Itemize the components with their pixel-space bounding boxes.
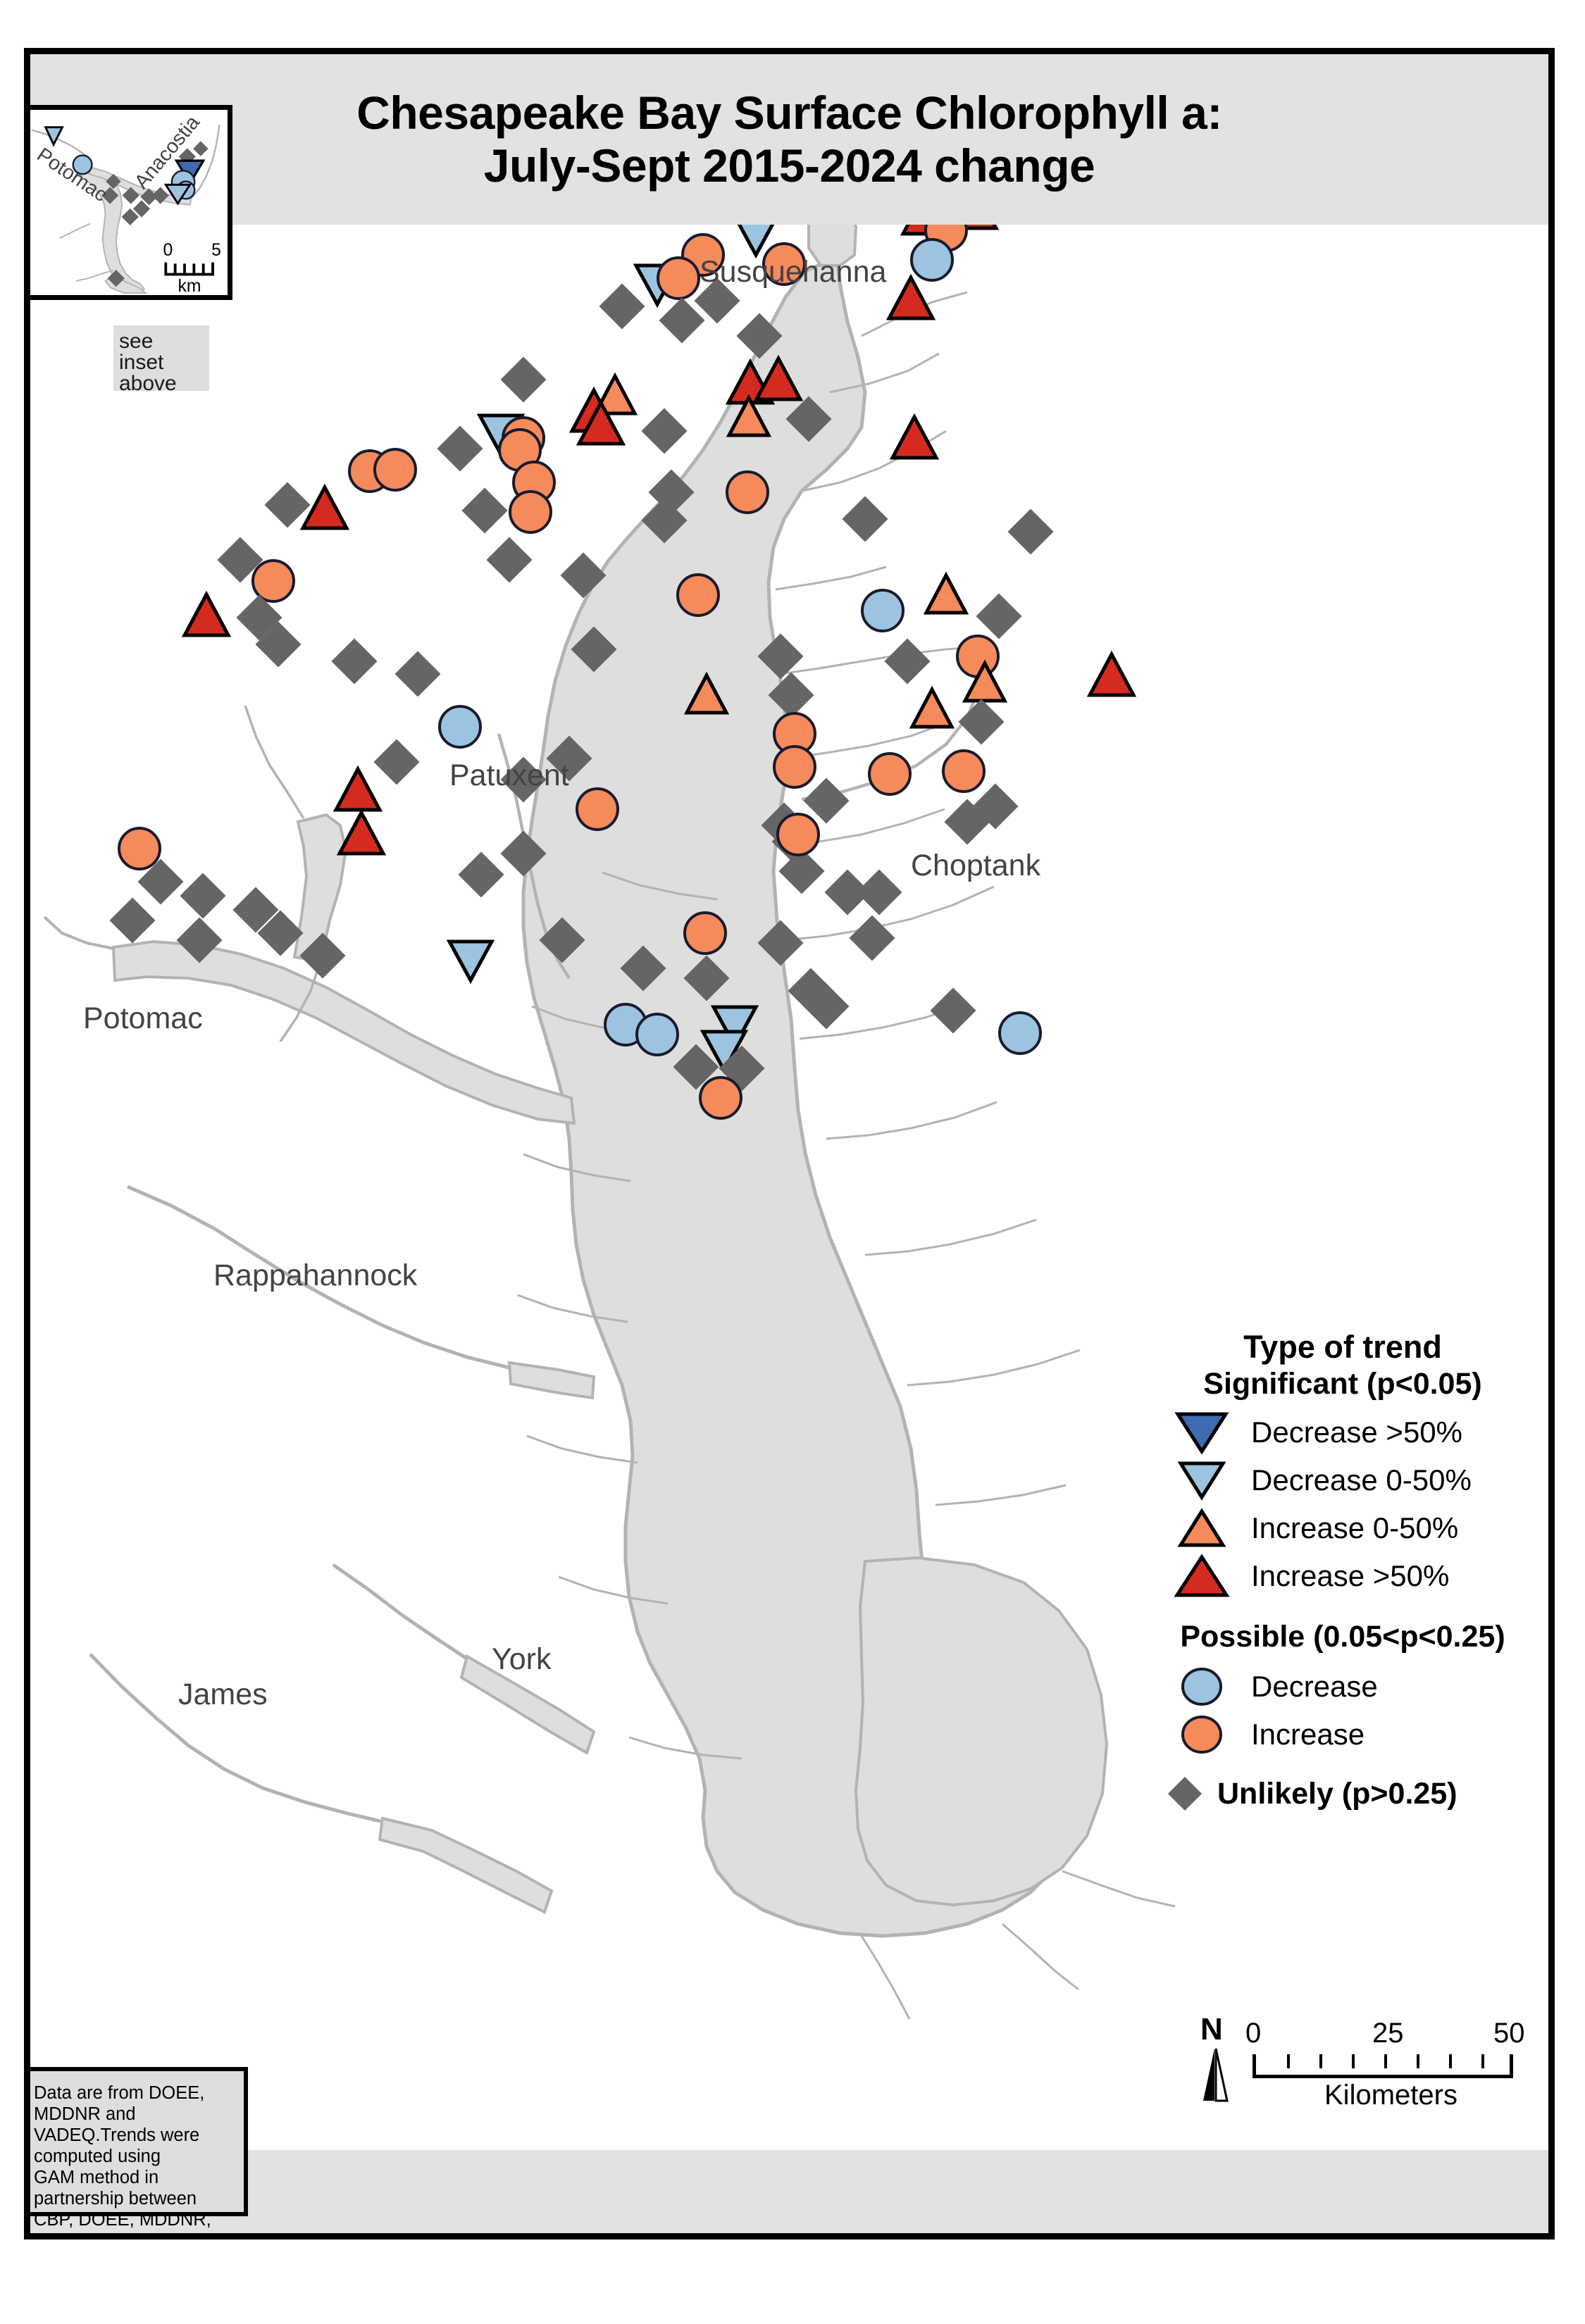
- legend-panel: Type of trend Significant (p<0.05) Decre…: [1152, 1329, 1533, 1812]
- decrease-small-marker: [449, 942, 492, 980]
- unlikely-marker: [180, 873, 225, 918]
- title-line-1: Chesapeake Bay Surface Chlorophyll a:: [356, 87, 1222, 139]
- unlikely-marker: [641, 408, 687, 454]
- possible-increase-marker: [577, 789, 618, 830]
- triangle-down-dark-blue-icon: [1152, 1411, 1251, 1454]
- see-inset-above-box: see inset above: [113, 325, 209, 391]
- legend-item-decrease-small: Decrease 0-50%: [1152, 1456, 1533, 1504]
- unlikely-marker: [500, 356, 546, 402]
- inset-map-panel: Potomac Anacostia 0 5 km: [24, 105, 232, 300]
- legend-label-possible-increase: Increase: [1251, 1718, 1365, 1751]
- possible-increase-marker: [685, 913, 726, 954]
- map-label-rappahannock: Rappahannock: [213, 1258, 417, 1293]
- york-river: [333, 1565, 594, 1753]
- title-banner: Chesapeake Bay Surface Chlorophyll a: Ju…: [30, 54, 1548, 225]
- increase-large-marker: [893, 417, 936, 458]
- title-line-2: July-Sept 2015-2024 change: [484, 139, 1095, 192]
- map-label-potomac: Potomac: [83, 1001, 203, 1036]
- legend-label-unlikely: Unlikely (p>0.25): [1217, 1777, 1457, 1811]
- see-inset-line-1: see: [119, 331, 153, 352]
- increase-large-marker: [336, 769, 380, 810]
- disclaimer-paragraph-1: Data are from DOEE, MDDNR and VADEQ.Tren…: [34, 2082, 237, 2239]
- possible-increase-marker: [943, 751, 984, 792]
- north-label: N: [1200, 2012, 1223, 2047]
- legend-label-decrease-small: Decrease 0-50%: [1251, 1463, 1472, 1497]
- inset-map-svg: Potomac Anacostia 0 5 km: [26, 110, 228, 295]
- increase-large-marker: [303, 487, 347, 528]
- map-label-choptank: Choptank: [911, 849, 1040, 883]
- increase-large-marker: [889, 277, 933, 318]
- possible-increase-marker: [510, 492, 551, 532]
- scale-ticks: [1253, 2054, 1513, 2078]
- increase-large-marker: [185, 594, 228, 635]
- svg-text:5: 5: [211, 241, 221, 260]
- unlikely-marker: [109, 897, 155, 943]
- unlikely-marker: [842, 496, 888, 542]
- map-frame: Chesapeake Bay Surface Chlorophyll a: Ju…: [24, 48, 1555, 2239]
- map-label-york: York: [492, 1642, 551, 1677]
- unlikely-marker: [1007, 508, 1053, 554]
- unlikely-marker: [976, 593, 1021, 639]
- possible-increase-marker: [778, 814, 819, 855]
- legend-item-increase-large: Increase >50%: [1152, 1552, 1533, 1600]
- possible-increase-marker: [869, 754, 910, 794]
- disclaimer-box: Data are from DOEE, MDDNR and VADEQ.Tren…: [24, 2067, 248, 2216]
- legend-item-decrease-large: Decrease >50%: [1152, 1408, 1533, 1456]
- possible-decrease-marker: [912, 239, 952, 280]
- legend-possible-header: Possible (0.05<p<0.25): [1152, 1620, 1533, 1654]
- inset-scalebar: 0 5 km: [163, 241, 220, 295]
- legend-item-unlikely: Unlikely (p>0.25): [1152, 1775, 1533, 1812]
- unlikely-marker: [437, 425, 483, 471]
- unlikely-marker: [264, 482, 310, 527]
- unlikely-marker: [930, 987, 976, 1033]
- svg-text:0: 0: [163, 241, 173, 260]
- scale-units-label: Kilometers: [1324, 2080, 1457, 2111]
- bay-waterbody: [523, 195, 1107, 1936]
- see-inset-line-3: above: [119, 373, 177, 394]
- unlikely-marker: [458, 851, 504, 897]
- possible-decrease-marker: [637, 1014, 678, 1055]
- circle-light-blue-icon: [1152, 1666, 1251, 1707]
- map-label-patuxent: Patuxent: [449, 758, 569, 793]
- unlikely-marker: [331, 638, 377, 684]
- triangle-up-orange-icon: [1152, 1508, 1251, 1549]
- legend-title: Type of trend: [1152, 1329, 1533, 1366]
- unlikely-marker: [599, 283, 645, 329]
- possible-decrease-marker: [440, 706, 480, 747]
- possible-increase-marker: [678, 575, 719, 616]
- scale-tick-50: 50: [1493, 2018, 1525, 2049]
- map-label-susquehanna: Susquehanna: [700, 255, 886, 289]
- unlikely-marker: [373, 739, 419, 785]
- legend-item-increase-small: Increase 0-50%: [1152, 1504, 1533, 1552]
- unlikely-marker: [394, 651, 440, 696]
- scale-tick-0: 0: [1245, 2018, 1261, 2049]
- triangle-up-red-icon: [1152, 1554, 1251, 1599]
- footer-band: [30, 2150, 1548, 2233]
- unlikely-marker: [884, 638, 930, 684]
- possible-increase-marker: [375, 449, 416, 490]
- possible-increase-marker: [957, 636, 998, 677]
- unlikely-marker: [849, 915, 895, 961]
- unlikely-marker: [958, 699, 1004, 744]
- scale-tick-25: 25: [1372, 2018, 1404, 2049]
- increase-large-marker: [1090, 654, 1133, 695]
- possible-decrease-marker: [862, 590, 903, 631]
- diamond-gray-icon: [1152, 1775, 1217, 1812]
- possible-increase-marker: [700, 1077, 741, 1118]
- increase-small-marker: [926, 575, 966, 613]
- see-inset-line-2: inset: [119, 352, 163, 373]
- legend-label-possible-decrease: Decrease: [1251, 1670, 1378, 1704]
- svg-text:km: km: [178, 277, 201, 295]
- james-river: [90, 1654, 552, 1912]
- map-label-james: James: [178, 1678, 268, 1712]
- triangle-down-light-blue-icon: [1152, 1460, 1251, 1501]
- increase-large-marker: [340, 813, 383, 854]
- possible-increase-marker: [119, 828, 160, 869]
- possible-increase-marker: [774, 746, 815, 787]
- basemap-svg: [30, 54, 1548, 2233]
- legend-significant-header: Significant (p<0.05): [1152, 1367, 1533, 1401]
- increase-small-marker: [912, 689, 952, 727]
- legend-item-possible-decrease: Decrease: [1152, 1663, 1533, 1711]
- unlikely-marker: [486, 537, 532, 582]
- unlikely-marker: [856, 869, 902, 915]
- scalebar-group: N 0 25 50 Kilometers: [1191, 2022, 1522, 2106]
- possible-increase-marker: [727, 472, 768, 513]
- north-arrow-icon: N: [1195, 2018, 1244, 2106]
- unlikely-marker: [461, 487, 507, 533]
- legend-item-possible-increase: Increase: [1152, 1711, 1533, 1758]
- legend-label-decrease-large: Decrease >50%: [1251, 1416, 1462, 1449]
- possible-decrease-marker: [1000, 1013, 1040, 1054]
- circle-orange-icon: [1152, 1714, 1251, 1755]
- possible-increase-marker: [658, 258, 699, 299]
- legend-label-increase-small: Increase 0-50%: [1251, 1511, 1458, 1545]
- legend-label-increase-large: Increase >50%: [1251, 1559, 1449, 1593]
